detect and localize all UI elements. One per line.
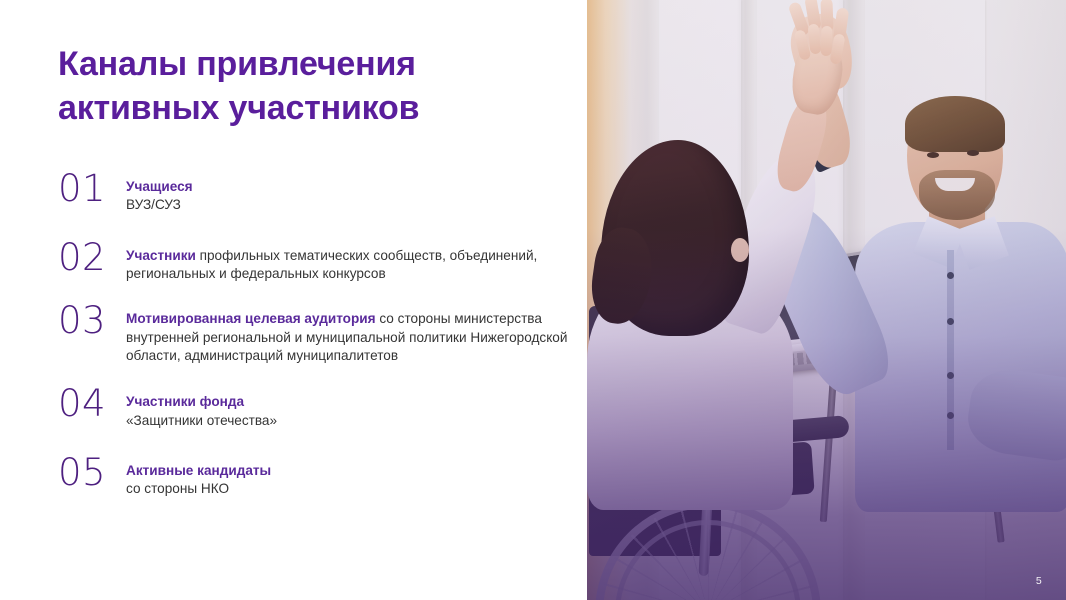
list-item-lead: Участники [126, 248, 196, 263]
list-item-number: 04 [58, 387, 126, 421]
list-item: 02 Участники профильных тематических соо… [58, 241, 578, 284]
woman-ear [731, 238, 749, 262]
list-item-subtext: ВУЗ/СУЗ [126, 197, 181, 212]
man-shirt-button [947, 272, 954, 279]
list-item-lead: Активные кандидаты [126, 463, 271, 478]
list-item-body: Активные кандидаты со стороны НКО [126, 456, 578, 499]
list-item-lead: Участники фонда [126, 394, 244, 409]
list-item: 04 Участники фонда «Защитники отечества» [58, 387, 578, 430]
man-shirt-button [947, 318, 954, 325]
list-item-number: 05 [58, 456, 126, 490]
list-item-subtext: со стороны НКО [126, 481, 229, 496]
list-item-body: Учащиеся ВУЗ/СУЗ [126, 172, 578, 215]
list-item-number: 01 [58, 172, 126, 206]
channels-list: 01 Учащиеся ВУЗ/СУЗ 02 Участники профиль… [58, 172, 578, 499]
photo-scene [587, 0, 1066, 600]
list-item: 05 Активные кандидаты со стороны НКО [58, 456, 578, 499]
list-item-body: Участники фонда «Защитники отечества» [126, 387, 578, 430]
list-item-number: 03 [58, 304, 126, 338]
list-item-body: Участники профильных тематических сообще… [126, 241, 578, 284]
left-content-pane: Каналы привлечения активных участников 0… [0, 0, 587, 600]
page-number: 5 [1036, 575, 1042, 587]
man-eye [967, 150, 979, 156]
man-shirt-placket [947, 250, 954, 450]
man-shirt-button [947, 412, 954, 419]
man-shirt-button [947, 372, 954, 379]
high-five-photo: 5 [587, 0, 1066, 600]
list-item-lead: Мотивированная целевая аудитория [126, 311, 376, 326]
man-eye [927, 152, 939, 158]
slide: Каналы привлечения активных участников 0… [0, 0, 1066, 600]
list-item: 03 Мотивированная целевая аудитория со с… [58, 304, 578, 365]
list-item: 01 Учащиеся ВУЗ/СУЗ [58, 172, 578, 215]
page-title: Каналы привлечения активных участников [58, 42, 558, 130]
man-hair [905, 96, 1005, 152]
list-item-lead: Учащиеся [126, 179, 193, 194]
list-item-number: 02 [58, 241, 126, 275]
list-item-body: Мотивированная целевая аудитория со стор… [126, 304, 578, 365]
list-item-subtext: «Защитники отечества» [126, 413, 277, 428]
